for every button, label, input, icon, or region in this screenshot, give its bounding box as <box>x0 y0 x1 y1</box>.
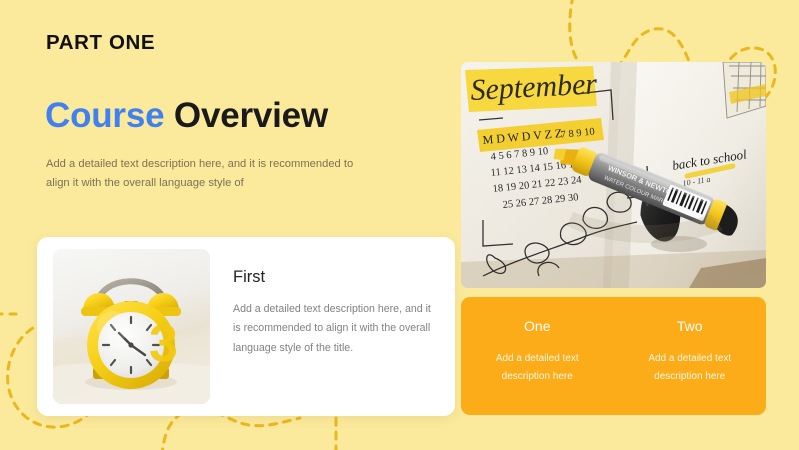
lead-paragraph: Add a detailed text description here, an… <box>46 155 376 194</box>
page-title: Course Overview <box>45 98 328 133</box>
orange-column-two-title: Two <box>614 319 767 333</box>
svg-text:3: 3 <box>149 315 178 373</box>
orange-column-two-text: Add a detailed text description here <box>614 350 767 386</box>
feature-card[interactable]: 3 First Add a detailed text description … <box>37 237 455 416</box>
page-title-highlight: Course <box>45 96 164 135</box>
feature-card-body: First Add a detailed text description he… <box>233 269 433 359</box>
orange-info-panel: One Add a detailed text description here… <box>461 297 766 415</box>
alarm-clock-photo: 3 <box>53 249 210 404</box>
feature-card-title: First <box>233 269 433 286</box>
orange-column-two[interactable]: Two Add a detailed text description here <box>614 297 767 415</box>
orange-column-one-text: Add a detailed text description here <box>461 350 614 386</box>
feature-card-text: Add a detailed text description here, an… <box>233 300 433 360</box>
orange-column-one[interactable]: One Add a detailed text description here <box>461 297 614 415</box>
part-label: PART ONE <box>46 31 155 55</box>
orange-column-one-title: One <box>461 319 614 333</box>
journal-photo: September M D W D V Z Z 7 8 9 10 4 5 6 7… <box>461 62 766 288</box>
page-title-rest: Overview <box>174 96 328 135</box>
slide-canvas: PART ONE Course Overview Add a detailed … <box>0 0 799 450</box>
svg-text:September: September <box>470 67 598 107</box>
dashed-dot-left-decoration <box>0 300 24 330</box>
